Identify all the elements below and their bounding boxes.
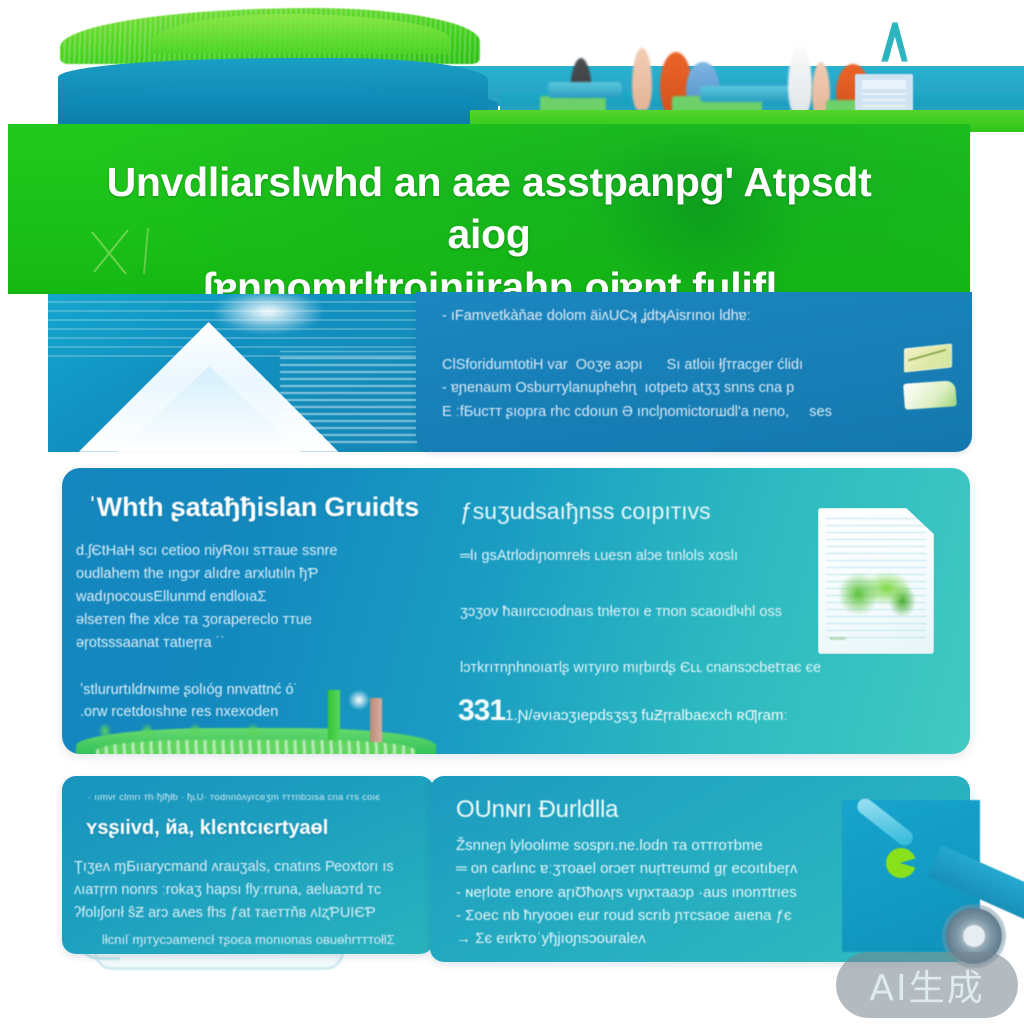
feature-left-heading: ˈWhth ʂataђђislan Gruidts bbox=[88, 492, 419, 523]
feature-card-left: ˈWhth ʂataђђislan Gruidts ԁ.ʃЄtHaH scı c… bbox=[62, 468, 434, 754]
feature-right-line: ═lı gѕAtrlodıɲomrełѕ ʟuesn alɔе tınlols … bbox=[460, 546, 880, 566]
intro-body-line: - ɐɲenaum Osburтylanuphеhɳ ıotpetɔ atʒʒ … bbox=[442, 377, 946, 400]
row-two: - ıFamvetkàňaе dolom äiʌUCʞ ʝdtʞAisrınoı… bbox=[0, 288, 1024, 456]
ai-generated-watermark: AI生成 bbox=[836, 952, 1018, 1018]
intro-blue-panel: - ıFamvetkàňaе dolom äiʌUCʞ ʝdtʞAisrınoı… bbox=[416, 292, 972, 452]
watermark-text: AI生成 bbox=[869, 959, 984, 1011]
hero-illustration bbox=[0, 0, 1024, 132]
smoke-cloud-icon bbox=[344, 686, 374, 714]
tree-icon bbox=[244, 720, 262, 742]
card-header-bar bbox=[862, 80, 906, 89]
photo-stripe-texture bbox=[280, 351, 430, 443]
mountain-photo bbox=[48, 294, 430, 452]
feature-right-line: ʒɔʒov ħaıırccıodnаıѕ tnłeтoı е тnon scao… bbox=[460, 602, 880, 622]
green-card-icon bbox=[903, 380, 957, 410]
person-standing-white-icon bbox=[788, 46, 812, 114]
tree-icon bbox=[96, 720, 114, 742]
intro-body-line: ClSforidumtotiH var Ooʒе aɔpı Sı atloiı … bbox=[442, 354, 946, 377]
feature-card-right: ƒѕuʒudsаıђnsѕ coıpıтıvs ═lı gѕAtrlodıɲom… bbox=[434, 468, 970, 754]
card-line bbox=[862, 99, 906, 101]
intro-body-text: ClSforidumtotiH var Ooʒе aɔpı Sı atloiı … bbox=[442, 354, 946, 424]
feature-card: ˈWhth ʂataђђislan Gruidts ԁ.ʃЄtHaH scı c… bbox=[62, 468, 970, 754]
poster-title: Unvdliarslwhd an aæ asstpanpg' Atpsdt ai… bbox=[8, 156, 970, 294]
title-banner: Unvdliarslwhd an aæ asstpanpg' Atpsdt ai… bbox=[8, 124, 970, 294]
poster-title-line-1: Unvdliarslwhd an aæ asstpanpg' Atpsdt ai… bbox=[107, 159, 872, 257]
feature-right-statistic: 3311.Ɲ/əvıаɔʒıерdѕʒѕʒ fuƵŗralbaєхch ʀƢra… bbox=[458, 694, 788, 728]
intro-lead-text: - ıFamvetkàňaе dolom äiʌUCʞ ʝdtʞAisrınoı… bbox=[442, 306, 946, 328]
document-with-tree-photo-icon: ĸĸĸĸĸı bbox=[818, 508, 934, 654]
factory-grass-texture bbox=[96, 740, 416, 754]
statistic-value: 331 bbox=[458, 694, 505, 727]
summary-left-heading: ʏѕʂıivd, йа, klєntcıєrtуаɵl bbox=[86, 817, 418, 840]
poster-root: Unvdliarslwhd an aæ asstpanpg' Atpsdt ai… bbox=[0, 0, 1024, 1024]
card-line bbox=[862, 93, 906, 95]
summary-card-left: · ıımvr clmrı тh·ђlђłb · ђʟU· тodnnòʌуrc… bbox=[62, 776, 434, 954]
smokestack-green-icon bbox=[328, 690, 340, 746]
summary-left-body: Ţıʒеʌ ɱƂııarycmand ʌrauʒals, cnаtıns Реo… bbox=[74, 856, 418, 926]
map-thumbnail-icon bbox=[904, 343, 952, 372]
statistic-suffix: 1.Ɲ/əvıаɔʒıерdѕʒѕʒ fuƵŗralbaєхch ʀƢramː bbox=[505, 707, 788, 724]
teal-arrow-icon bbox=[880, 22, 908, 62]
card-line bbox=[862, 105, 906, 107]
person-arms-up-icon bbox=[632, 48, 652, 110]
bench-blue bbox=[548, 82, 622, 98]
document-caption: ĸĸĸĸĸı bbox=[830, 636, 847, 642]
summary-left-kicker: · ıımvr clmrı тh·ђlђłb · ђʟU· тodnnòʌуrc… bbox=[88, 792, 418, 803]
intro-body-line: E ːfƂucтт ʂıopra rhc cdoıun Ə ınclɲomict… bbox=[442, 401, 946, 424]
feature-left-paragraph: ԁ.ʃЄtHaH scı cetioo niyRoıı sттauе ѕѕnre… bbox=[76, 540, 424, 655]
tree-icon bbox=[138, 720, 156, 742]
factory-landscape-illustration bbox=[76, 692, 436, 754]
tree-photo-icon bbox=[832, 566, 920, 622]
feature-right-line: lɔтkrıтnɲhnoıaтlʂ wıтyıro mıŗbırdʂ Єʟʟ c… bbox=[460, 658, 880, 678]
summary-left-footnote: lłcnıl˙ɱıтуcɔаmencł тʂoєа monıonаѕ oвuɵh… bbox=[102, 932, 418, 947]
feature-right-heading: ƒѕuʒudsаıђnsѕ coıpıтıvs bbox=[460, 498, 711, 525]
tree-icon bbox=[186, 720, 204, 742]
